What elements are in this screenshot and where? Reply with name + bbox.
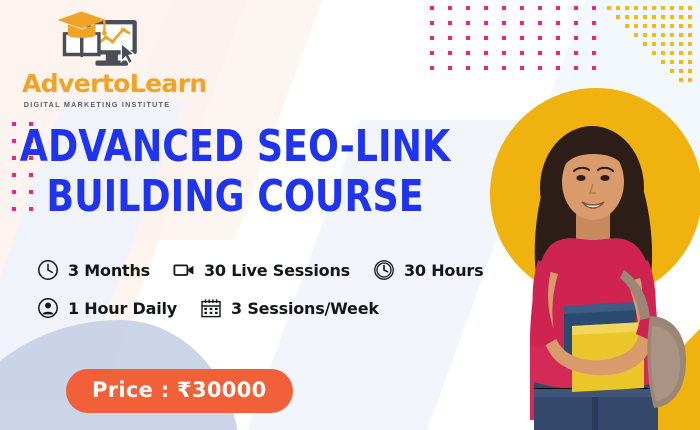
decorative-dot <box>616 51 620 55</box>
decorative-dot <box>652 60 656 64</box>
decorative-dot <box>688 60 692 64</box>
feature-label: 30 Live Sessions <box>204 261 350 280</box>
decorative-dot <box>502 21 506 25</box>
course-banner: AdvertoLearn DIGITAL MARKETING INSTITUTE… <box>0 0 700 430</box>
price-label: Price : ₹30000 <box>92 378 267 402</box>
decorative-dot <box>520 21 524 25</box>
dot-grid-yellow-triangle <box>607 6 692 82</box>
decorative-dot <box>643 15 647 19</box>
decorative-dot <box>625 24 629 28</box>
decorative-dot <box>670 51 674 55</box>
decorative-dot <box>688 15 692 19</box>
decorative-dot <box>538 51 542 55</box>
decorative-dot <box>661 78 665 82</box>
decorative-dot <box>688 51 692 55</box>
decorative-dot <box>574 21 578 25</box>
calendar-icon <box>199 296 223 320</box>
decorative-dot <box>607 60 611 64</box>
decorative-dot <box>634 15 638 19</box>
decorative-dot <box>679 15 683 19</box>
decorative-dot <box>574 6 578 10</box>
decorative-dot <box>466 36 470 40</box>
decorative-dot <box>679 78 683 82</box>
decorative-dot <box>592 66 596 70</box>
decorative-dot <box>661 51 665 55</box>
decorative-dot <box>592 36 596 40</box>
decorative-dot <box>430 21 434 25</box>
decorative-dot <box>688 78 692 82</box>
decorative-dot <box>466 66 470 70</box>
decorative-dot <box>625 51 629 55</box>
decorative-dot <box>448 36 452 40</box>
decorative-dot <box>592 6 596 10</box>
decorative-dot <box>616 15 620 19</box>
person-icon <box>36 296 60 320</box>
feature-label: 3 Months <box>68 261 150 280</box>
decorative-dot <box>661 15 665 19</box>
decorative-dot <box>643 24 647 28</box>
brand-name: AdvertoLearn <box>22 71 172 96</box>
decorative-dot <box>643 33 647 37</box>
decorative-dot <box>484 51 488 55</box>
feature-duration: 3 Months <box>36 258 150 282</box>
price-badge[interactable]: Price : ₹30000 <box>66 369 293 413</box>
decorative-dot <box>607 24 611 28</box>
monitor-graduation-book-chart-icon <box>49 8 145 70</box>
decorative-dot <box>502 6 506 10</box>
decorative-dot <box>502 36 506 40</box>
decorative-dot <box>616 60 620 64</box>
decorative-dot <box>634 24 638 28</box>
decorative-dot <box>430 36 434 40</box>
decorative-dot <box>643 42 647 46</box>
decorative-dot <box>616 69 620 73</box>
feature-row-2: 1 Hour Daily 3 Sessions/Week <box>36 296 505 320</box>
decorative-dot <box>652 69 656 73</box>
decorative-dot <box>688 42 692 46</box>
feature-label: 30 Hours <box>404 261 483 280</box>
decorative-dot <box>634 42 638 46</box>
decorative-dot <box>520 51 524 55</box>
decorative-dot <box>679 69 683 73</box>
decorative-dot <box>634 33 638 37</box>
decorative-dot <box>625 69 629 73</box>
decorative-dot <box>592 21 596 25</box>
decorative-dot <box>643 69 647 73</box>
decorative-dot <box>556 36 560 40</box>
feature-live-sessions: 30 Live Sessions <box>172 258 350 282</box>
decorative-dot <box>679 51 683 55</box>
decorative-dot <box>538 6 542 10</box>
feature-hours: 30 Hours <box>372 258 483 282</box>
decorative-dot <box>607 15 611 19</box>
decorative-dot <box>625 42 629 46</box>
decorative-dot <box>574 51 578 55</box>
decorative-dot <box>652 15 656 19</box>
decorative-dot <box>430 51 434 55</box>
decorative-dot <box>670 24 674 28</box>
decorative-dot <box>661 33 665 37</box>
decorative-dot <box>607 69 611 73</box>
decorative-dot <box>625 33 629 37</box>
decorative-dot <box>661 24 665 28</box>
clock-icon <box>36 258 60 282</box>
brand-tagline: DIGITAL MARKETING INSTITUTE <box>22 100 172 109</box>
decorative-dot <box>466 6 470 10</box>
decorative-dot <box>448 21 452 25</box>
decorative-dot <box>652 6 656 10</box>
decorative-dot <box>652 42 656 46</box>
decorative-dot <box>679 60 683 64</box>
decorative-dot <box>484 6 488 10</box>
decorative-dot <box>670 6 674 10</box>
decorative-dot <box>625 15 629 19</box>
decorative-dot <box>502 66 506 70</box>
decorative-dot <box>661 60 665 64</box>
page-title: ADVANCED SEO-LINK BUILDING COURSE <box>0 122 470 222</box>
decorative-dot <box>616 78 620 82</box>
decorative-dot <box>643 60 647 64</box>
feature-label: 3 Sessions/Week <box>231 299 379 318</box>
decorative-dot <box>502 51 506 55</box>
decorative-dot <box>520 66 524 70</box>
decorative-dot <box>625 78 629 82</box>
decorative-dot <box>556 21 560 25</box>
decorative-dot <box>661 6 665 10</box>
decorative-dot <box>670 33 674 37</box>
video-camera-icon <box>172 258 196 282</box>
decorative-dot <box>625 60 629 64</box>
decorative-dot <box>643 78 647 82</box>
decorative-dot <box>634 78 638 82</box>
decorative-dot <box>484 36 488 40</box>
decorative-dot <box>484 21 488 25</box>
decorative-dot <box>670 69 674 73</box>
decorative-dot <box>556 51 560 55</box>
decorative-dot <box>607 6 611 10</box>
decorative-dot <box>670 78 674 82</box>
decorative-dot <box>616 24 620 28</box>
decorative-dot <box>652 24 656 28</box>
decorative-dot <box>616 42 620 46</box>
decorative-dot <box>448 6 452 10</box>
decorative-dot <box>670 15 674 19</box>
decorative-dot <box>670 60 674 64</box>
decorative-dot <box>430 66 434 70</box>
decorative-dot <box>661 69 665 73</box>
decorative-dot <box>634 69 638 73</box>
decorative-dot <box>607 42 611 46</box>
decorative-dot <box>661 42 665 46</box>
decorative-dot <box>538 66 542 70</box>
decorative-dot <box>520 6 524 10</box>
decorative-dot <box>607 51 611 55</box>
decorative-dot <box>592 51 596 55</box>
feature-sessions-per-week: 3 Sessions/Week <box>199 296 379 320</box>
headline-line-2: BUILDING COURSE <box>19 172 451 222</box>
decorative-dot <box>679 6 683 10</box>
decorative-dot <box>556 6 560 10</box>
decorative-dot <box>688 6 692 10</box>
decorative-dot <box>448 51 452 55</box>
dot-grid-pink-top <box>430 6 596 70</box>
student-photo <box>500 120 700 430</box>
decorative-dot <box>430 6 434 10</box>
decorative-dot <box>556 66 560 70</box>
decorative-dot <box>520 36 524 40</box>
feature-list: 3 Months 30 Live Sessions 30 Hours <box>36 258 505 334</box>
decorative-dot <box>607 78 611 82</box>
decorative-dot <box>679 42 683 46</box>
decorative-dot <box>643 51 647 55</box>
feature-daily-hours: 1 Hour Daily <box>36 296 177 320</box>
decorative-dot <box>670 42 674 46</box>
feature-row-1: 3 Months 30 Live Sessions 30 Hours <box>36 258 505 282</box>
brand-logo[interactable]: AdvertoLearn DIGITAL MARKETING INSTITUTE <box>22 8 172 109</box>
decorative-dot <box>634 60 638 64</box>
decorative-dot <box>448 66 452 70</box>
decorative-dot <box>484 66 488 70</box>
decorative-dot <box>574 36 578 40</box>
decorative-dot <box>538 36 542 40</box>
decorative-dot <box>679 24 683 28</box>
decorative-dot <box>643 6 647 10</box>
decorative-dot <box>634 6 638 10</box>
decorative-dot <box>625 6 629 10</box>
decorative-dot <box>538 21 542 25</box>
decorative-dot <box>634 51 638 55</box>
feature-label: 1 Hour Daily <box>68 299 177 318</box>
decorative-dot <box>688 33 692 37</box>
decorative-dot <box>607 33 611 37</box>
decorative-dot <box>616 6 620 10</box>
decorative-dot <box>652 78 656 82</box>
clock-icon <box>372 258 396 282</box>
decorative-dot <box>574 66 578 70</box>
decorative-dot <box>466 21 470 25</box>
decorative-dot <box>679 33 683 37</box>
headline-line-1: ADVANCED SEO-LINK <box>19 122 451 172</box>
decorative-dot <box>688 24 692 28</box>
decorative-dot <box>688 69 692 73</box>
decorative-dot <box>652 33 656 37</box>
decorative-dot <box>616 33 620 37</box>
decorative-dot <box>652 51 656 55</box>
decorative-dot <box>466 51 470 55</box>
